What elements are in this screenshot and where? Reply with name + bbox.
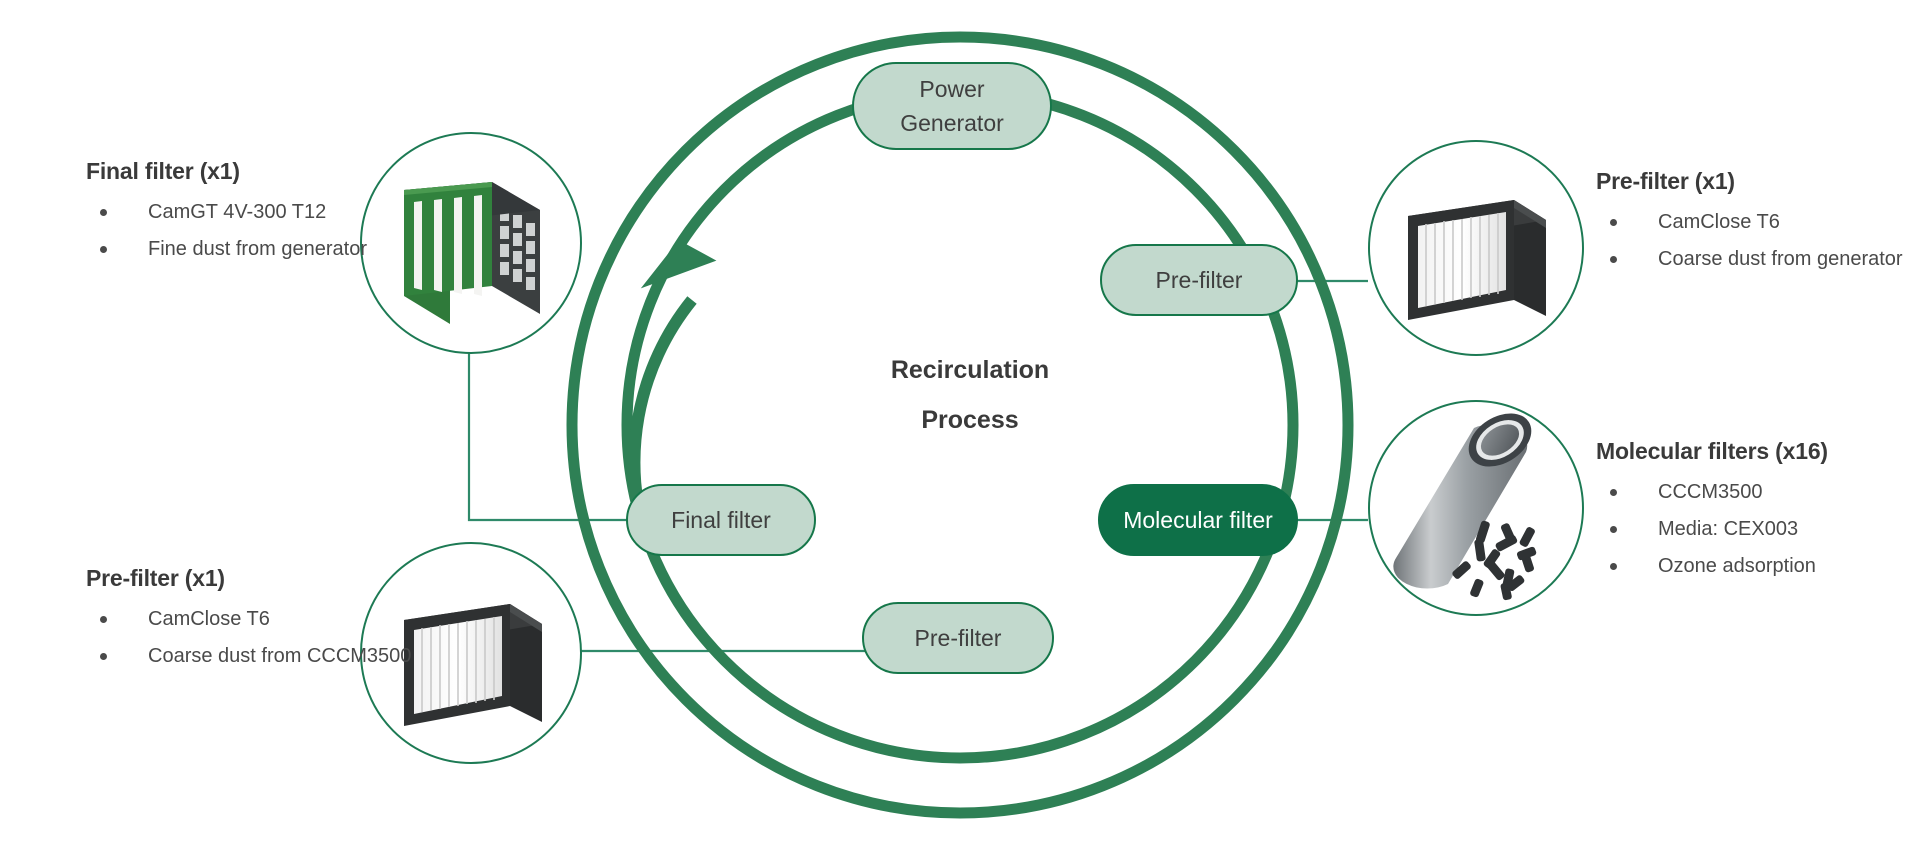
v-bank-filter-icon [362,134,580,352]
photo-prefilter-right [1368,140,1584,356]
bullet-icon [100,209,107,216]
info-list-molecular: CCCM3500 Media: CEX003 Ozone adsorption [1596,477,1828,582]
panel-filter-icon [1370,142,1582,354]
node-molecular-filter[interactable]: Molecular filter [1098,484,1298,556]
list-item: CamClose T6 [86,604,411,635]
node-molecular-filter-label: Molecular filter [1123,503,1273,537]
info-item-text: Media: CEX003 [1658,514,1828,545]
node-power-generator-line2: Generator [900,110,1004,136]
center-caption-line1: Recirculation [800,345,1140,395]
info-item-text: Coarse dust from CCCM3500 [148,641,411,672]
bullet-icon [100,246,107,253]
bullet-icon [100,616,107,623]
info-title-prefilter-bottom: Pre-filter (x1) [86,565,411,592]
photo-molecular-filter [1368,400,1584,616]
info-block-prefilter-bottom: Pre-filter (x1) CamClose T6 Coarse dust … [86,565,411,678]
info-item-text: CamClose T6 [1658,207,1903,238]
node-final-filter[interactable]: Final filter [626,484,816,556]
info-item-text: Coarse dust from generator [1658,244,1903,275]
bullet-icon [100,653,107,660]
list-item: CCCM3500 [1596,477,1828,508]
info-item-text: CamGT 4V-300 T12 [148,197,367,228]
info-list-prefilter-bottom: CamClose T6 Coarse dust from CCCM3500 [86,604,411,672]
node-prefilter-bottom[interactable]: Pre-filter [862,602,1054,674]
center-caption: Recirculation Process [800,345,1140,445]
bullet-icon [1610,489,1617,496]
node-power-generator-line1: Power [919,76,984,102]
diagram-canvas: Power Generator Pre-filter Molecular fil… [0,0,1920,850]
list-item: Ozone adsorption [1596,551,1828,582]
info-list-final-filter: CamGT 4V-300 T12 Fine dust from generato… [86,197,367,265]
carbon-canister-icon [1370,402,1582,614]
center-caption-line2: Process [800,395,1140,445]
list-item: Coarse dust from CCCM3500 [86,641,411,672]
bullet-icon [1610,256,1617,263]
info-title-molecular: Molecular filters (x16) [1596,438,1828,465]
info-list-prefilter-right: CamClose T6 Coarse dust from generator [1596,207,1903,275]
bullet-icon [1610,219,1617,226]
connector-lines [469,281,1368,651]
bullet-icon [1610,526,1617,533]
photo-final-filter [360,132,582,354]
node-prefilter-right[interactable]: Pre-filter [1100,244,1298,316]
list-item: Fine dust from generator [86,234,367,265]
bullet-icon [1610,563,1617,570]
info-title-prefilter-right: Pre-filter (x1) [1596,168,1903,195]
info-title-final-filter: Final filter (x1) [86,158,367,185]
info-item-text: CamClose T6 [148,604,411,635]
info-item-text: CCCM3500 [1658,477,1828,508]
list-item: Coarse dust from generator [1596,244,1903,275]
node-final-filter-label: Final filter [671,503,771,537]
info-item-text: Ozone adsorption [1658,551,1828,582]
node-prefilter-right-label: Pre-filter [1156,263,1243,297]
node-prefilter-bottom-label: Pre-filter [915,621,1002,655]
info-item-text: Fine dust from generator [148,234,367,265]
node-power-generator[interactable]: Power Generator [852,62,1052,150]
list-item: CamGT 4V-300 T12 [86,197,367,228]
list-item: Media: CEX003 [1596,514,1828,545]
info-block-prefilter-right: Pre-filter (x1) CamClose T6 Coarse dust … [1596,168,1903,281]
info-block-final-filter: Final filter (x1) CamGT 4V-300 T12 Fine … [86,158,367,271]
list-item: CamClose T6 [1596,207,1903,238]
info-block-molecular: Molecular filters (x16) CCCM3500 Media: … [1596,438,1828,588]
